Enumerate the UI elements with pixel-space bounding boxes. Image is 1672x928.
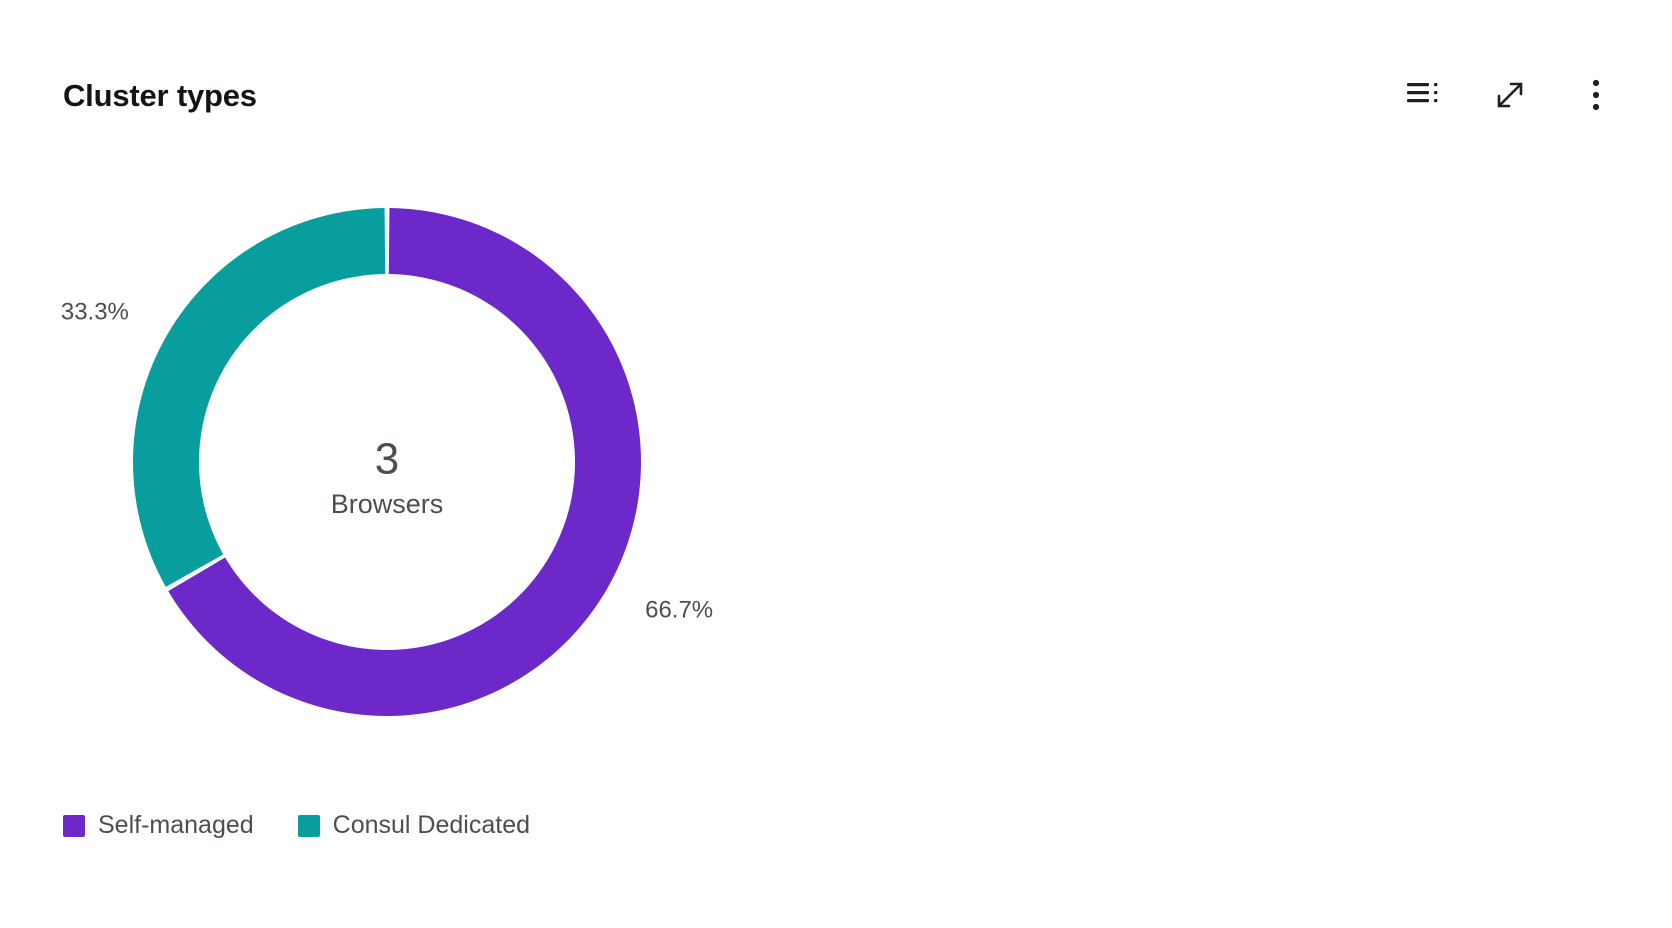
pie-slice-consul-dedicated[interactable]: [133, 208, 385, 587]
chart-area: 66.7% 33.3% 3 Browsers: [0, 140, 1672, 790]
page-title: Cluster types: [63, 80, 257, 111]
legend-item-consul-dedicated[interactable]: Consul Dedicated: [298, 813, 530, 838]
legend-swatch-self-managed: [63, 815, 85, 837]
center-total-value: 3: [375, 435, 399, 484]
legend-item-self-managed[interactable]: Self-managed: [63, 813, 254, 838]
center-total-label: Browsers: [331, 489, 444, 519]
header-actions: [1403, 74, 1617, 116]
donut-chart: 66.7% 33.3% 3 Browsers: [67, 200, 707, 790]
donut-svg: 66.7% 33.3% 3 Browsers: [67, 200, 707, 790]
slice-percent-label-consul-dedicated: 33.3%: [61, 298, 129, 325]
slice-percent-label-self-managed: 66.7%: [645, 596, 713, 623]
expand-icon[interactable]: [1489, 74, 1531, 116]
legend-label-self-managed: Self-managed: [98, 813, 254, 838]
chart-legend: Self-managed Consul Dedicated: [63, 813, 530, 838]
overflow-menu-icon[interactable]: [1575, 74, 1617, 116]
legend-list-icon[interactable]: [1403, 74, 1445, 116]
cluster-types-card: Cluster types: [0, 0, 1672, 928]
legend-label-consul-dedicated: Consul Dedicated: [333, 813, 530, 838]
legend-swatch-consul-dedicated: [298, 815, 320, 837]
